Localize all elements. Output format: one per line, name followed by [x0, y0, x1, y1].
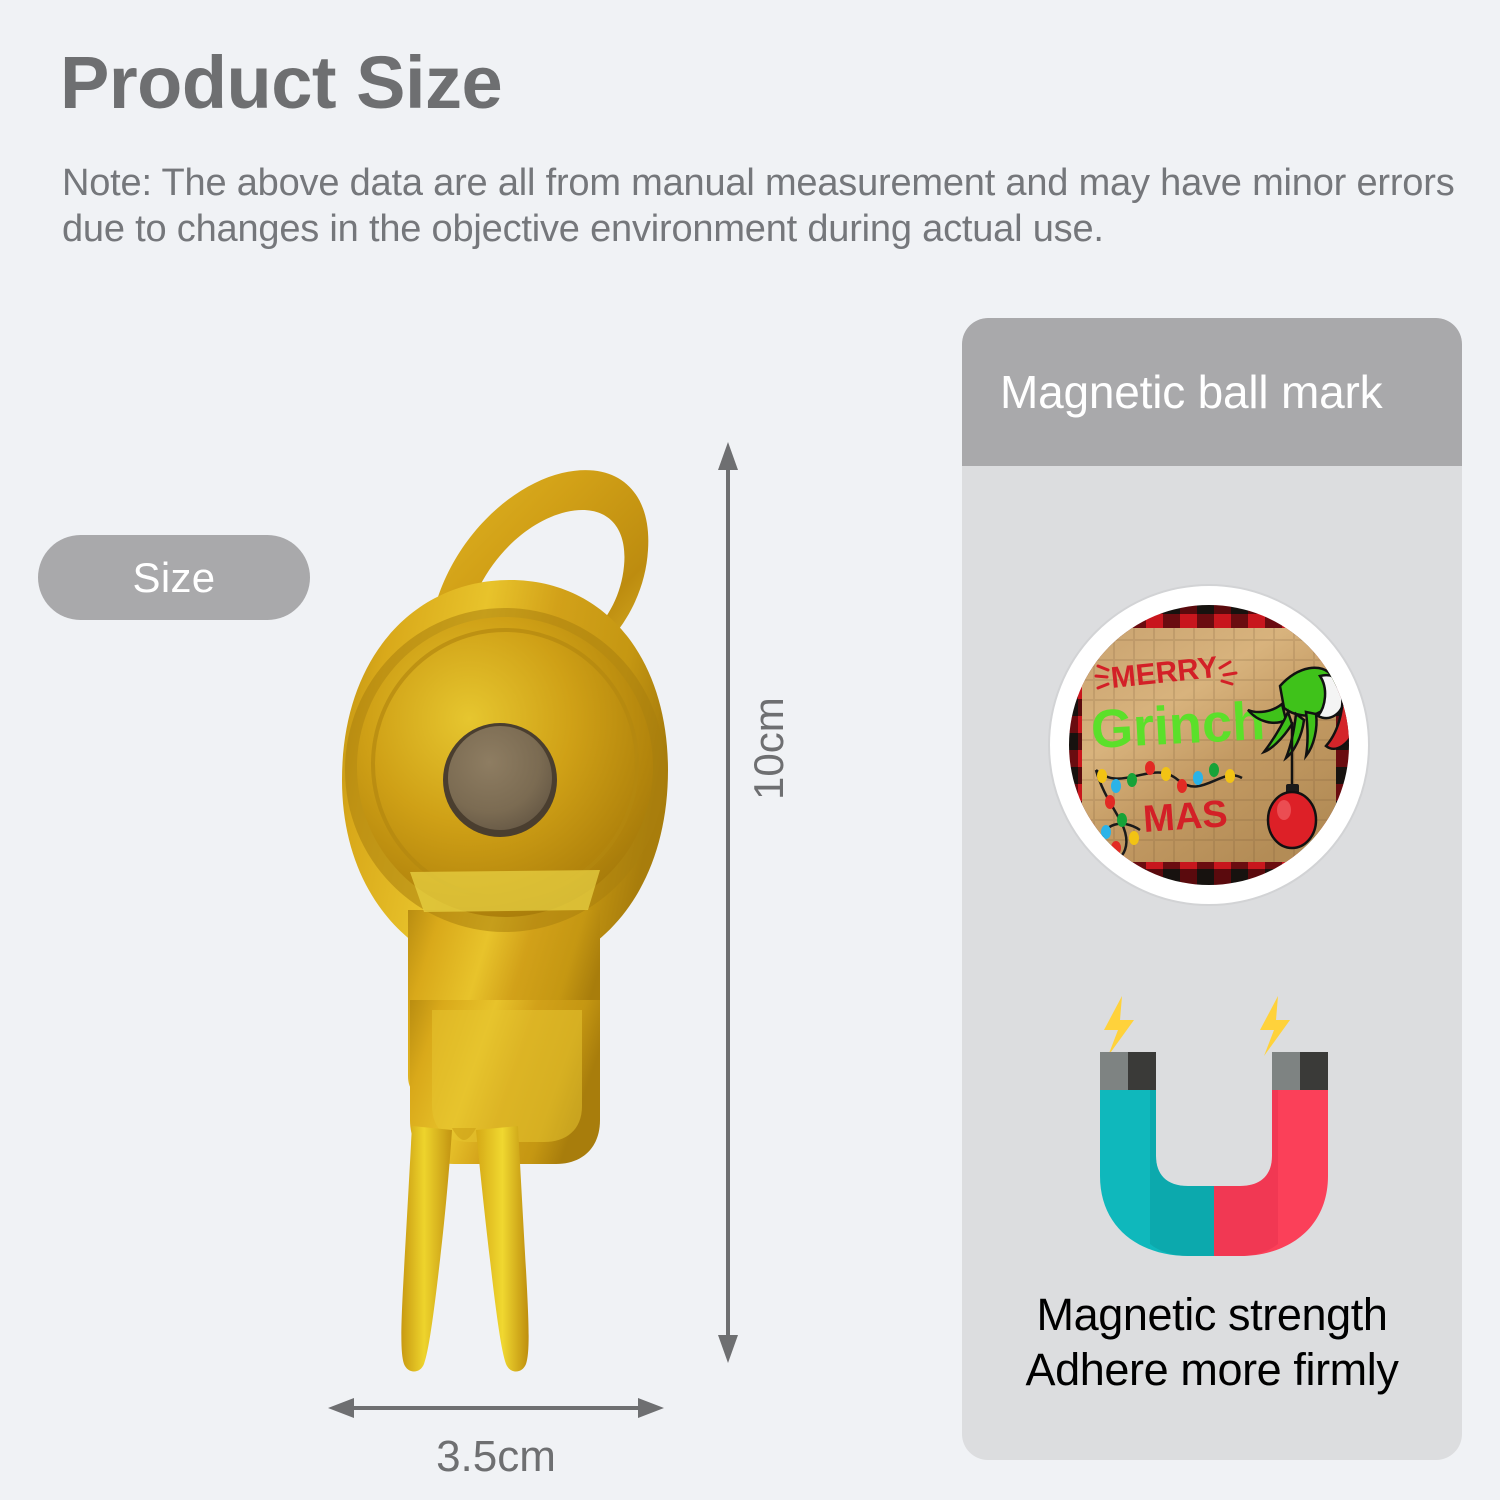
page-title: Product Size — [60, 46, 502, 120]
magnetic-ball-mark-panel: Magnetic ball mark — [962, 318, 1462, 1460]
product-image-divot-tool — [300, 440, 720, 1380]
measurement-note: Note: The above data are all from manual… — [62, 160, 1462, 253]
panel-header-label: Magnetic ball mark — [1000, 365, 1382, 419]
horseshoe-magnet-icon — [1082, 990, 1347, 1265]
spark-icon-left — [1104, 996, 1134, 1056]
spark-icon-right — [1260, 996, 1290, 1056]
product-size-infographic: Product Size Note: The above data are al… — [0, 0, 1500, 1500]
tool-neck-highlight — [432, 1010, 582, 1142]
height-arrow-bottom — [718, 1335, 738, 1363]
panel-caption-line1: Magnetic strength — [962, 1288, 1462, 1343]
width-dimension-line — [326, 1392, 666, 1424]
width-arrow-left — [328, 1398, 354, 1418]
height-dimension-label: 10cm — [745, 697, 793, 800]
panel-caption-line2: Adhere more firmly — [962, 1343, 1462, 1398]
magnet-tip-right-dark — [1300, 1052, 1328, 1090]
panel-header: Magnetic ball mark — [962, 318, 1462, 466]
magnet-disc — [448, 726, 552, 830]
magnet-right-shadow — [1214, 1088, 1278, 1256]
disc-highlight — [410, 870, 600, 912]
marker-text-mas: MAS — [1142, 793, 1229, 841]
width-dimension-label: 3.5cm — [326, 1432, 666, 1482]
panel-caption: Magnetic strength Adhere more firmly — [962, 1288, 1462, 1398]
divot-tool-illustration — [300, 440, 720, 1380]
marker-burlap-sign: MERRY Grinch MAS — [1082, 628, 1358, 862]
size-badge: Size — [38, 535, 310, 620]
magnet-tip-right-light — [1272, 1052, 1300, 1090]
ball-marker-image: MERRY Grinch MAS — [1044, 580, 1374, 910]
tool-prong-left — [401, 1126, 452, 1372]
magnet-tip-left-dark — [1128, 1052, 1156, 1090]
width-arrow-right — [638, 1398, 664, 1418]
height-arrow-top — [718, 442, 738, 470]
size-badge-label: Size — [133, 554, 216, 602]
height-dimension-line — [712, 440, 744, 1365]
magnet-tip-left-light — [1100, 1052, 1128, 1090]
marker-text-grinch: Grinch — [1089, 691, 1266, 760]
magnet-left-shadow — [1150, 1088, 1214, 1256]
